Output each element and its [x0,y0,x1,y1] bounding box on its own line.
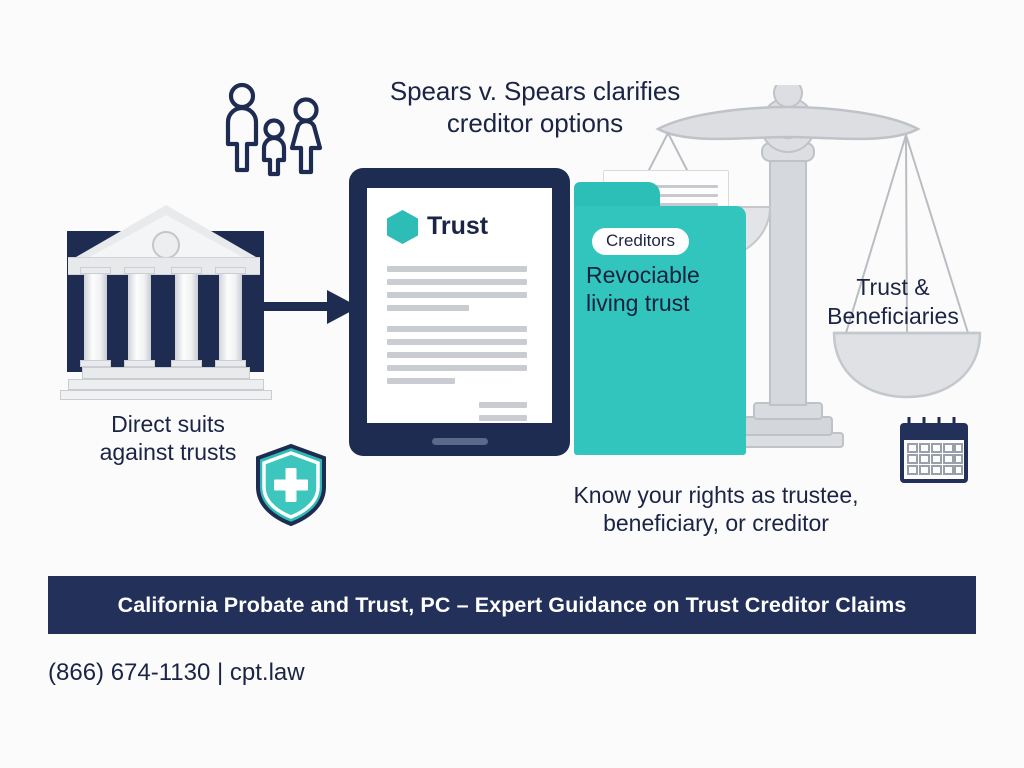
courthouse-medallion [152,231,180,259]
courthouse-step [82,367,250,379]
caption-direct-suits: Direct suits against trusts [48,410,288,466]
creditors-badge: Creditors [592,228,689,255]
tablet-device: Trust [349,168,570,456]
shield-plus-icon [253,443,329,527]
document-text-line [387,339,527,345]
family-icon [214,82,334,177]
document-text-line [387,365,527,371]
courthouse-icon [58,205,273,400]
tablet-home-button[interactable] [432,438,488,445]
contact-line: (866) 674-1130 | cpt.law [48,659,305,687]
infographic-canvas: Spears v. Spears clarifies creditor opti… [0,0,1024,768]
document-text-line [387,378,455,384]
document-text-line [387,279,527,285]
document-text-line [387,326,527,332]
courthouse-column [219,273,242,361]
scale-label-trust-beneficiaries: Trust & Beneficiaries [800,273,986,330]
courthouse-column [128,273,151,361]
courthouse-column [84,273,107,361]
document-text-line [387,292,527,298]
document-title: Trust [427,212,488,241]
tablet-screen: Trust [367,188,552,423]
courthouse-step [60,390,272,400]
footer-banner: California Probate and Trust, PC – Exper… [48,576,976,634]
caption-know-your-rights: Know your rights as trustee, beneficiary… [520,481,912,537]
document-text-line [387,305,469,311]
courthouse-step [68,379,264,390]
calendar-icon [897,414,971,486]
document-text-line [387,352,527,358]
document-text-line [479,402,527,408]
hexagon-icon [387,210,418,244]
banner-text: California Probate and Trust, PC – Exper… [118,593,907,618]
document-text-line [479,415,527,421]
document-text-line [387,266,527,272]
courthouse-column [175,273,198,361]
folder-creditors: Creditors Revociable living trust [574,170,746,455]
arrow-right-icon [255,288,360,326]
folder-label: Revociable living trust [586,262,736,317]
